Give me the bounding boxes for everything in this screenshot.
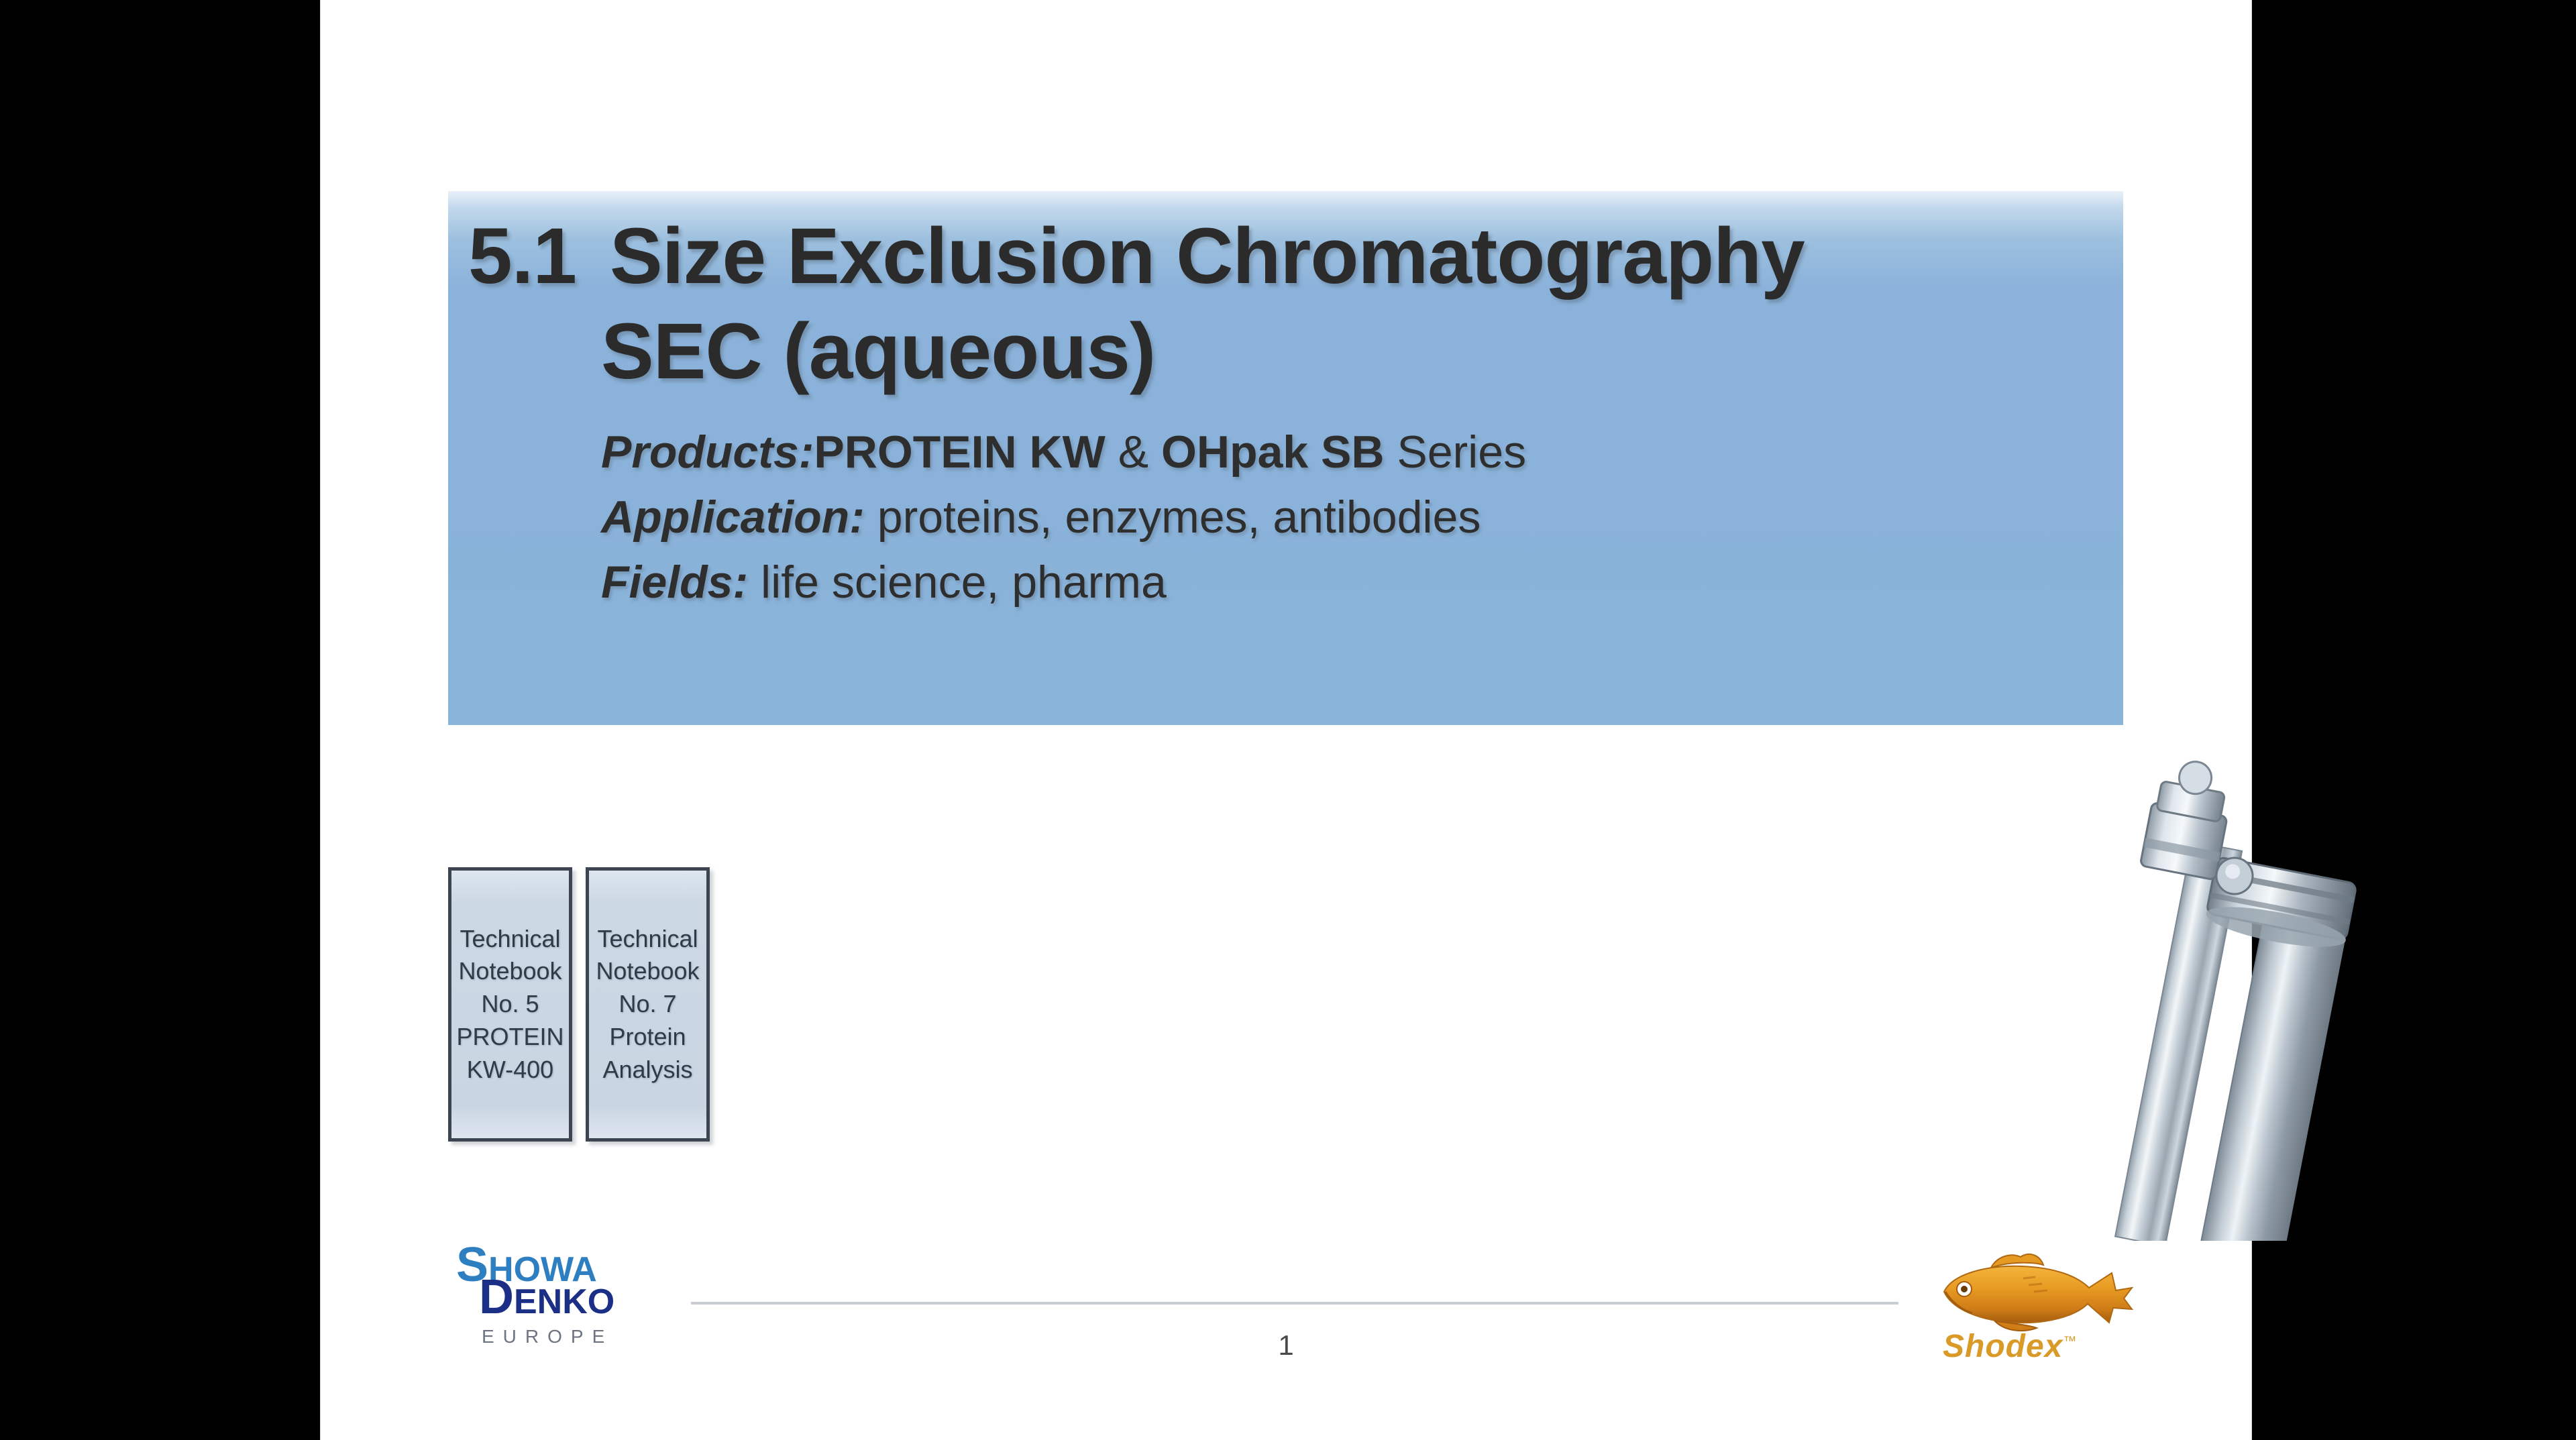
detail-label-application: Application: <box>601 492 865 543</box>
slide-title-line-1: 5.1Size Exclusion Chromatography <box>468 217 1805 296</box>
slide-title-main: Size Exclusion Chromatography <box>610 212 1805 300</box>
logo-denko-rest: ENKO <box>514 1282 614 1321</box>
notebook-line: No. 5 <box>481 989 539 1020</box>
technical-notebook-card-no-7[interactable]: Technical Notebook No. 7 Protein Analysi… <box>586 867 710 1142</box>
logo-word-denko: DENKO <box>479 1276 614 1319</box>
product-series-suffix: Series <box>1384 427 1526 478</box>
shodex-fish-icon <box>1911 1248 2139 1335</box>
technical-notebook-card-no-5[interactable]: Technical Notebook No. 5 PROTEIN KW-400 <box>448 867 572 1142</box>
detail-value-application: proteins, enzymes, antibodies <box>865 492 1481 543</box>
logo-denko-cap: D <box>479 1270 514 1324</box>
notebook-line: Notebook <box>596 956 699 987</box>
shodex-logo: Shodex™ <box>1911 1248 2139 1375</box>
title-panel: 5.1Size Exclusion Chromatography SEC (aq… <box>448 191 2123 725</box>
product-conjunction: & <box>1106 427 1161 478</box>
notebook-line: Protein <box>609 1021 686 1053</box>
presentation-slide: 5.1Size Exclusion Chromatography SEC (aq… <box>321 0 2251 1440</box>
detail-label-fields: Fields: <box>601 557 748 608</box>
detail-row-application: Application: proteins, enzymes, antibodi… <box>601 494 1481 540</box>
shodex-wordmark-text: Shodex <box>1943 1329 2063 1364</box>
trademark-symbol: ™ <box>2063 1334 2077 1349</box>
showa-denko-europe-logo: SHOWA DENKO EUROPE <box>441 1244 723 1372</box>
detail-value-fields: life science, pharma <box>748 557 1167 608</box>
hplc-column-photo <box>2076 744 2371 1241</box>
notebook-line: Analysis <box>602 1054 692 1086</box>
detail-label-products: Products: <box>601 427 814 478</box>
slide-title-line-2: SEC (aqueous) <box>601 312 1155 391</box>
notebook-line: KW-400 <box>467 1054 553 1086</box>
notebook-line: Notebook <box>458 956 561 987</box>
letterbox-bar-left <box>0 0 321 1440</box>
notebook-line: Technical <box>597 924 698 955</box>
video-viewport: 5.1Size Exclusion Chromatography SEC (aq… <box>0 0 2576 1440</box>
footer-divider <box>691 1302 1898 1305</box>
notebook-line: PROTEIN <box>456 1021 563 1053</box>
notebook-line: No. 7 <box>619 989 676 1020</box>
logo-word-europe: EUROPE <box>482 1326 613 1347</box>
product-ohpak-sb: OHpak SB <box>1161 427 1385 478</box>
detail-row-fields: Fields: life science, pharma <box>601 559 1167 605</box>
shodex-wordmark: Shodex™ <box>1943 1328 2077 1365</box>
detail-row-products: Products:PROTEIN KW & OHpak SB Series <box>601 429 1526 475</box>
notebook-line: Technical <box>460 924 560 955</box>
product-protein-kw: PROTEIN KW <box>814 427 1105 478</box>
slide-number: 5.1 <box>468 212 576 300</box>
